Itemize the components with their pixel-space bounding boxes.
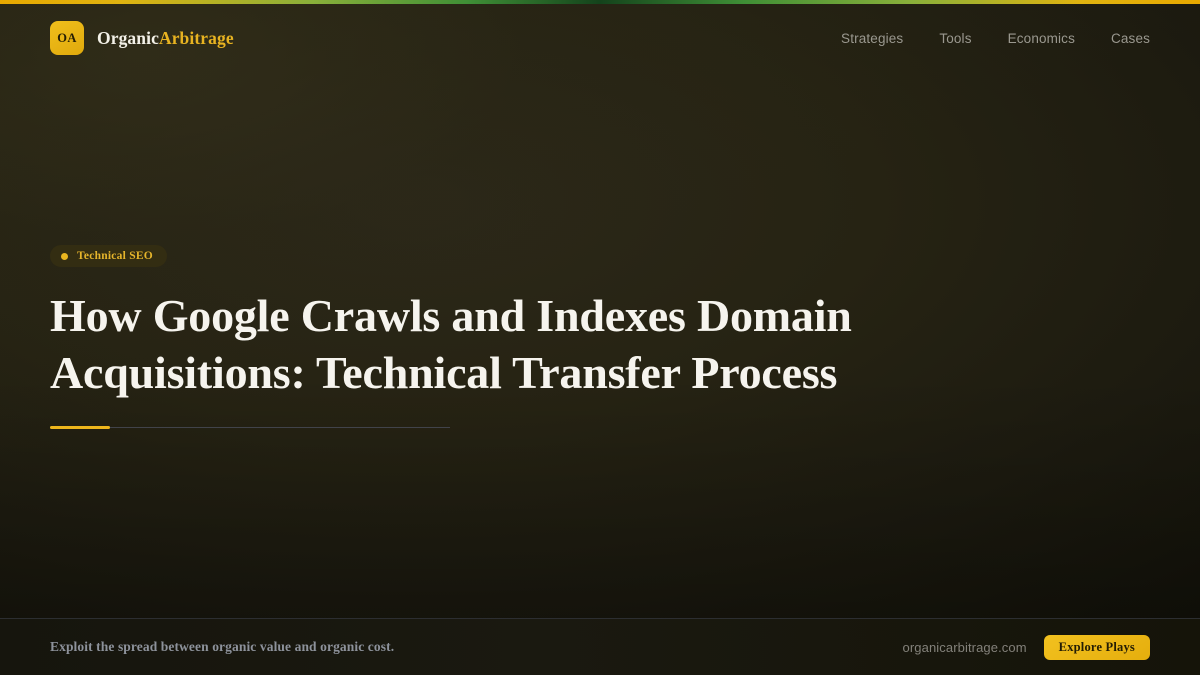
rule-accent-segment [50,426,110,429]
title-underline-rule [50,426,450,429]
hero-section: Technical SEO How Google Crawls and Inde… [50,245,1150,429]
page-title: How Google Crawls and Indexes Domain Acq… [50,287,910,401]
nav-item-strategies[interactable]: Strategies [841,31,903,46]
footer-actions: organicarbitrage.com Explore Plays [903,635,1150,660]
gradient-accent-bar [0,0,1200,4]
brand-wordmark: OrganicArbitrage [97,28,234,49]
site-header: OA OrganicArbitrage Strategies Tools Eco… [0,4,1200,72]
logo-mark-icon: OA [50,21,84,55]
badge-dot-icon [61,253,68,260]
nav-item-economics[interactable]: Economics [1008,31,1075,46]
rule-track [50,427,450,428]
brand-word-first: Organic [97,28,159,48]
category-badge[interactable]: Technical SEO [50,245,167,267]
site-footer: Exploit the spread between organic value… [0,618,1200,675]
brand-word-second: Arbitrage [159,28,234,48]
article-hero-page: OA OrganicArbitrage Strategies Tools Eco… [0,0,1200,675]
nav-item-cases[interactable]: Cases [1111,31,1150,46]
explore-plays-button[interactable]: Explore Plays [1044,635,1150,660]
nav-item-tools[interactable]: Tools [939,31,971,46]
brand-logo[interactable]: OA OrganicArbitrage [50,21,234,55]
category-badge-label: Technical SEO [77,250,153,262]
footer-domain-label: organicarbitrage.com [903,640,1027,655]
main-nav: Strategies Tools Economics Cases [841,31,1150,46]
footer-tagline: Exploit the spread between organic value… [50,639,394,655]
